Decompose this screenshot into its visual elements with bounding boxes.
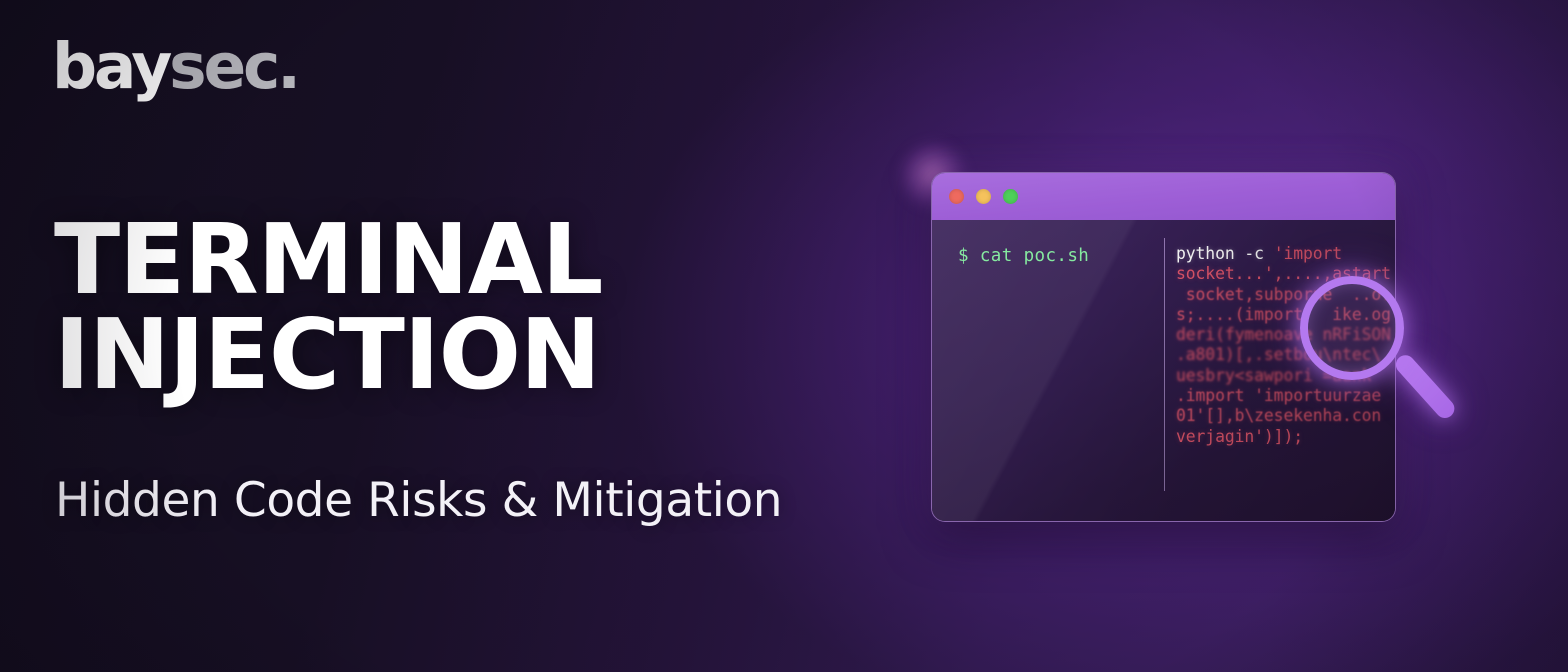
brand-logo[interactable]: baysec. — [52, 35, 298, 98]
window-minimize-icon[interactable] — [976, 189, 991, 204]
terminal-right-pane[interactable]: python -c 'import socket...',....,astart… — [1164, 220, 1395, 522]
code-keyword: python -c — [1176, 244, 1274, 263]
code-line: .a801)[,.setbou\ntec\ — [1176, 345, 1385, 365]
code-line: python -c 'import — [1176, 244, 1385, 264]
code-line: uesbry<sawpori =aank — [1176, 366, 1385, 386]
terminal-titlebar — [932, 173, 1395, 220]
page-title: TERMINAL INJECTION — [54, 212, 602, 402]
window-maximize-icon[interactable] — [1003, 189, 1018, 204]
terminal-window[interactable]: $ cat poc.sh python -c 'import socket...… — [931, 172, 1396, 522]
banner-canvas: baysec. TERMINAL INJECTION Hidden Code R… — [0, 0, 1568, 672]
pane-divider — [1164, 238, 1165, 491]
brand-logo-primary: bay — [52, 30, 169, 103]
code-line: .import 'importuurzae — [1176, 386, 1385, 406]
code-line: 01'[],b\zesekenha.con — [1176, 406, 1385, 426]
code-line: socket,subporne ..o. — [1176, 285, 1385, 305]
code-line: deri(fymenoave nRFiSON — [1176, 325, 1385, 345]
code-line: s;....(import ike.og — [1176, 305, 1385, 325]
code-line: socket...',....,astart — [1176, 264, 1385, 284]
shell-prompt-line: $ cat poc.sh — [958, 246, 1164, 266]
brand-logo-secondary: sec. — [169, 30, 298, 103]
terminal-left-pane[interactable]: $ cat poc.sh — [932, 220, 1164, 522]
window-close-icon[interactable] — [949, 189, 964, 204]
magnifier-handle — [1392, 351, 1458, 422]
code-text: 'import — [1274, 244, 1342, 263]
page-subtitle: Hidden Code Risks & Mitigation — [55, 477, 782, 524]
terminal-body: $ cat poc.sh python -c 'import socket...… — [932, 220, 1395, 522]
code-line: verjagin')]); — [1176, 427, 1385, 447]
page-title-line-2: INJECTION — [54, 307, 602, 402]
